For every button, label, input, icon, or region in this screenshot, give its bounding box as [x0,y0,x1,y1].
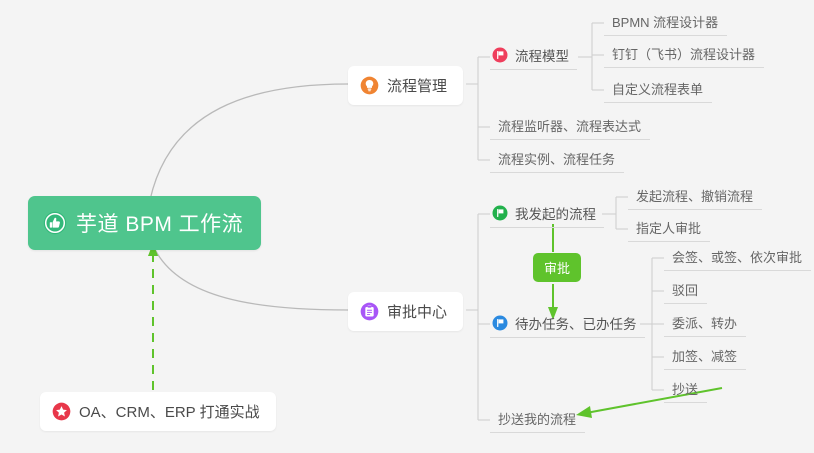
leaf-label: 发起流程、撤销流程 [636,186,753,205]
branch-label: 流程管理 [387,75,447,96]
leaf-add-remove-sign[interactable]: 加签、减签 [664,342,746,370]
leaf-label: 指定人审批 [636,218,701,237]
leaf-label: 抄送 [672,379,698,398]
leaf-process-listener-expression[interactable]: 流程监听器、流程表达式 [490,112,650,140]
leaf-label: 委派、转办 [672,313,737,332]
flag-pink-icon [492,47,508,63]
topic-my-initiated-process[interactable]: 我发起的流程 [490,200,604,228]
leaf-process-instance-task[interactable]: 流程实例、流程任务 [490,145,624,173]
star-icon [52,402,71,421]
leaf-custom-process-form[interactable]: 自定义流程表单 [604,75,712,103]
root-label: 芋道 BPM 工作流 [76,208,243,238]
leaf-label: 会签、或签、依次审批 [672,247,802,266]
flag-blue-icon [492,315,508,331]
leaf-label: 钉钉（飞书）流程设计器 [612,44,755,63]
leaf-delegate-transfer[interactable]: 委派、转办 [664,309,746,337]
branch-label: 审批中心 [387,301,447,322]
annotation-integration-callout[interactable]: OA、CRM、ERP 打通实战 [40,392,276,431]
annotation-approval-callout: 审批 [533,253,581,282]
thumbs-up-icon [43,211,67,235]
clipboard-icon [360,302,379,321]
leaf-label: 流程实例、流程任务 [498,149,615,168]
topic-process-model[interactable]: 流程模型 [490,42,577,70]
leaf-reject[interactable]: 驳回 [664,276,707,304]
mindmap-canvas: 芋道 BPM 工作流 流程管理 流程模型 BPMN 流程设计器 钉钉（飞书 [0,0,814,453]
annotation-label: OA、CRM、ERP 打通实战 [79,401,260,422]
leaf-label: 抄送我的流程 [498,409,576,428]
leaf-dingtalk-feishu-designer[interactable]: 钉钉（飞书）流程设计器 [604,40,764,68]
leaf-label: 自定义流程表单 [612,79,703,98]
leaf-label: 流程监听器、流程表达式 [498,116,641,135]
topic-label: 流程模型 [515,45,569,65]
branch-approval-center[interactable]: 审批中心 [348,292,463,331]
leaf-assignee-approval[interactable]: 指定人审批 [628,214,710,242]
root-node[interactable]: 芋道 BPM 工作流 [28,196,261,250]
topic-label: 待办任务、已办任务 [515,313,637,333]
leaf-countersign-approval[interactable]: 会签、或签、依次审批 [664,243,811,271]
leaf-label: 加签、减签 [672,346,737,365]
annotation-label: 审批 [544,258,570,277]
leaf-label: BPMN 流程设计器 [612,12,718,31]
leaf-label: 驳回 [672,280,698,299]
topic-label: 我发起的流程 [515,203,596,223]
lightbulb-icon [360,76,379,95]
leaf-cc-to-me-process[interactable]: 抄送我的流程 [490,405,585,433]
flag-green-icon [492,205,508,221]
leaf-start-cancel-process[interactable]: 发起流程、撤销流程 [628,182,762,210]
leaf-cc[interactable]: 抄送 [664,375,707,403]
leaf-bpmn-designer[interactable]: BPMN 流程设计器 [604,8,727,36]
topic-todo-done-tasks[interactable]: 待办任务、已办任务 [490,310,645,338]
branch-process-management[interactable]: 流程管理 [348,66,463,105]
